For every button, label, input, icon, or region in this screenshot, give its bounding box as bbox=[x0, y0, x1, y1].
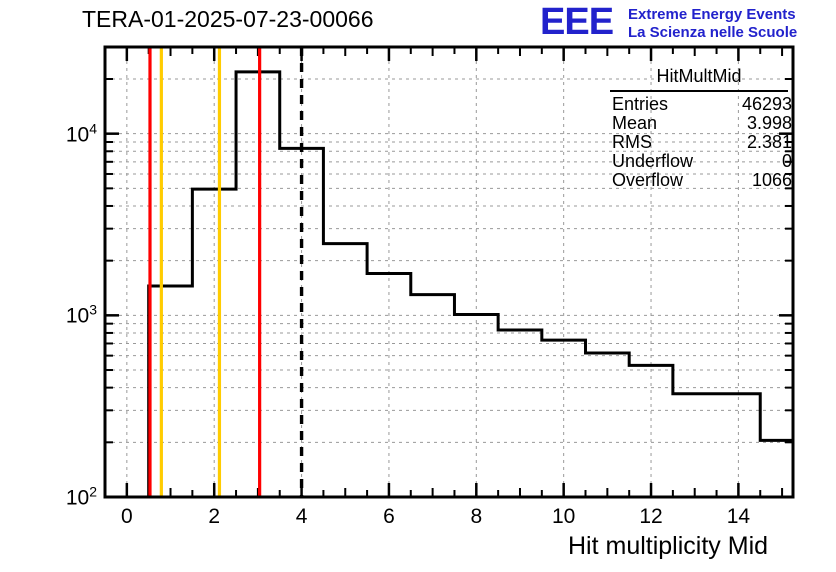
x-tick-label: 0 bbox=[121, 505, 133, 529]
x-axis-title: Hit multiplicity Mid bbox=[568, 532, 768, 561]
x-tick-label: 4 bbox=[296, 505, 308, 529]
y-tick-label: 102 bbox=[66, 484, 97, 511]
stats-row: Entries46293 bbox=[610, 94, 794, 114]
stats-box-title: HitMultMid bbox=[604, 66, 794, 87]
stats-row-value: 46293 bbox=[742, 94, 792, 115]
stats-row-label: Overflow bbox=[612, 170, 683, 191]
stats-row-value: 1066 bbox=[752, 170, 792, 191]
stats-row-label: Entries bbox=[612, 94, 668, 115]
stats-row: Mean3.998 bbox=[610, 113, 794, 133]
stats-row: Underflow0 bbox=[610, 151, 794, 171]
stats-row: Overflow1066 bbox=[610, 170, 794, 190]
x-tick-label: 2 bbox=[208, 505, 220, 529]
y-tick-label: 104 bbox=[66, 120, 97, 147]
stats-row-label: Underflow bbox=[612, 151, 693, 172]
stats-row-value: 3.998 bbox=[747, 113, 792, 134]
stats-row-label: RMS bbox=[612, 132, 652, 153]
stats-box: HitMultMid Entries46293Mean3.998RMS2.381… bbox=[604, 66, 794, 188]
y-tick-label: 103 bbox=[66, 302, 97, 329]
stats-row-value: 0 bbox=[782, 151, 792, 172]
stats-row-label: Mean bbox=[612, 113, 657, 134]
x-tick-label: 12 bbox=[639, 505, 662, 529]
x-tick-label: 14 bbox=[727, 505, 750, 529]
plot-canvas: TERA-01-2025-07-23-00066 EEE Extreme Ene… bbox=[0, 0, 836, 572]
x-tick-label: 8 bbox=[470, 505, 482, 529]
stats-row-value: 2.381 bbox=[747, 132, 792, 153]
x-tick-label: 10 bbox=[552, 505, 575, 529]
x-tick-label: 6 bbox=[383, 505, 395, 529]
stats-title-divider bbox=[610, 90, 788, 92]
stats-row: RMS2.381 bbox=[610, 132, 794, 152]
